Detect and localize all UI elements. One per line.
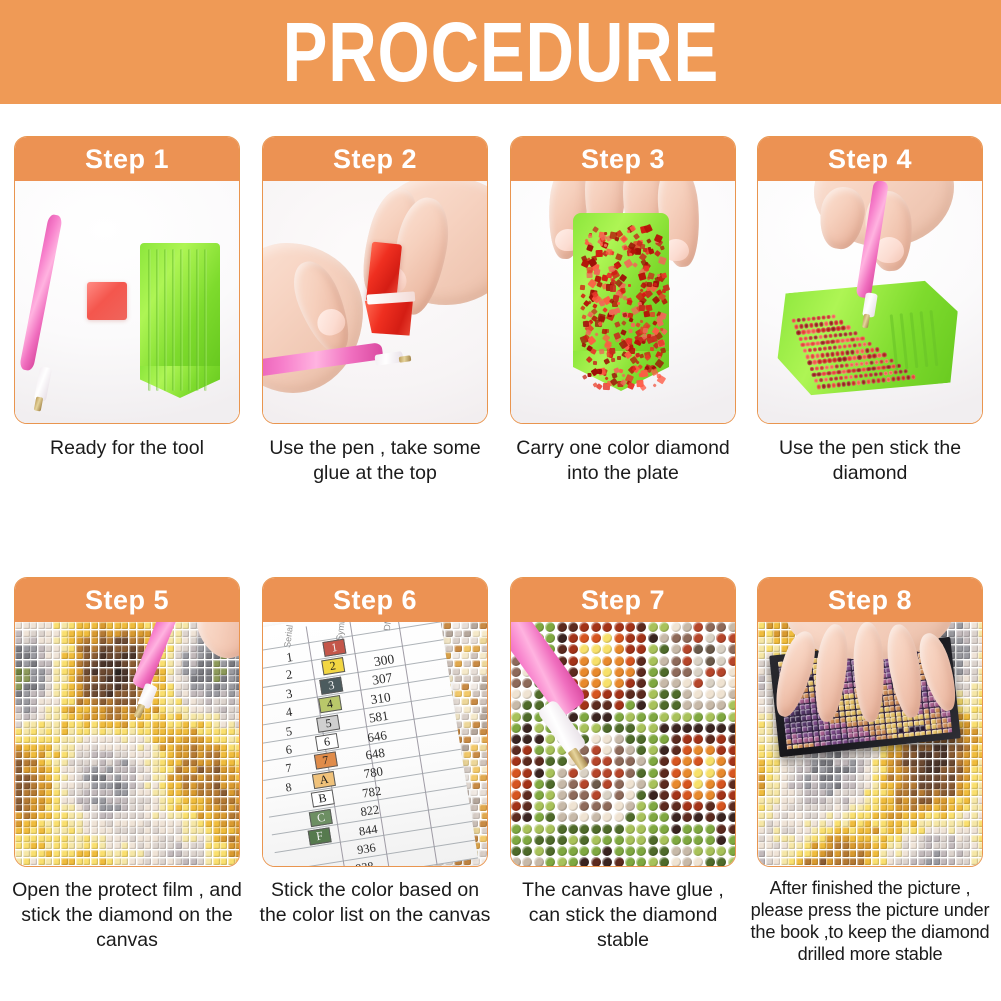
step-card-2[interactable]: Step 2	[262, 136, 488, 424]
drill	[159, 782, 166, 789]
drill	[796, 774, 803, 781]
drill	[197, 858, 204, 865]
drill	[197, 782, 204, 789]
drill	[106, 850, 113, 857]
drill	[648, 689, 658, 699]
drill	[99, 683, 106, 690]
drill	[923, 702, 928, 707]
drill	[228, 675, 235, 682]
drill	[144, 797, 151, 804]
drill	[15, 744, 22, 751]
drill	[15, 637, 22, 644]
drill	[705, 712, 715, 722]
drill	[579, 812, 589, 822]
drill	[522, 768, 532, 778]
drill	[235, 721, 239, 728]
drill	[933, 797, 940, 804]
drill	[864, 782, 871, 789]
step-card-4[interactable]: Step 4	[757, 136, 983, 424]
drill	[693, 723, 703, 733]
drill	[804, 850, 811, 857]
drill	[971, 690, 978, 697]
drill	[766, 630, 773, 637]
drill	[849, 812, 856, 819]
drill	[892, 728, 897, 733]
drill	[83, 751, 90, 758]
drill	[91, 744, 98, 751]
drill	[682, 712, 692, 722]
drill	[129, 835, 136, 842]
drill	[522, 745, 532, 755]
drill	[129, 797, 136, 804]
drill	[114, 804, 121, 811]
drill	[137, 835, 144, 842]
drill	[758, 827, 765, 834]
drill	[648, 835, 658, 845]
drill	[625, 790, 635, 800]
drill	[884, 707, 889, 712]
drill	[568, 835, 578, 845]
drill	[15, 782, 22, 789]
drill	[971, 827, 978, 834]
drill	[896, 717, 901, 722]
drill	[811, 804, 818, 811]
drill	[53, 728, 60, 735]
drill	[971, 675, 978, 682]
drill	[479, 652, 487, 659]
drill	[129, 766, 136, 773]
drill	[902, 759, 909, 766]
drill	[849, 774, 856, 781]
drill	[91, 782, 98, 789]
drill	[602, 745, 612, 755]
drill	[579, 644, 589, 654]
drill	[463, 675, 471, 682]
drill	[811, 858, 818, 865]
drill	[824, 365, 829, 370]
drill	[137, 637, 144, 644]
drill	[152, 759, 159, 766]
drill	[159, 797, 166, 804]
drill	[887, 797, 894, 804]
drill	[53, 637, 60, 644]
drill	[99, 789, 106, 796]
drill	[137, 782, 144, 789]
drill	[758, 812, 765, 819]
chart-symbol-cell: 7	[314, 752, 338, 770]
drill	[76, 797, 83, 804]
drill	[636, 824, 646, 834]
drill	[53, 744, 60, 751]
drill	[91, 713, 98, 720]
drill	[978, 713, 982, 720]
drill	[888, 689, 893, 694]
drill	[545, 622, 555, 632]
drill	[220, 660, 227, 667]
drill	[978, 789, 982, 796]
glue-square-icon	[87, 282, 127, 320]
drill	[867, 342, 872, 347]
drill	[901, 376, 906, 381]
drill	[190, 668, 197, 675]
drill	[758, 721, 765, 728]
drill	[728, 700, 735, 710]
drill	[68, 804, 75, 811]
drill	[614, 689, 624, 699]
drill	[766, 842, 773, 849]
drill	[849, 782, 856, 789]
drill	[804, 842, 811, 849]
drill	[129, 652, 136, 659]
drill	[819, 797, 826, 804]
drill	[45, 782, 52, 789]
drill	[648, 768, 658, 778]
drill	[61, 782, 68, 789]
drill	[152, 827, 159, 834]
drill	[591, 622, 601, 632]
chart-serial-value: 7	[285, 761, 293, 777]
drill	[175, 630, 182, 637]
drill	[831, 383, 836, 388]
drill	[925, 759, 932, 766]
drill	[152, 835, 159, 842]
step-header-7: Step 7	[511, 578, 735, 622]
drill	[99, 736, 106, 743]
drill	[808, 335, 813, 340]
drill	[197, 660, 204, 667]
drill	[811, 774, 818, 781]
drill	[978, 751, 982, 758]
drill	[220, 850, 227, 857]
drill	[182, 630, 189, 637]
drill	[159, 842, 166, 849]
drill	[121, 652, 128, 659]
drill	[872, 759, 879, 766]
drill	[834, 858, 841, 865]
step-card-7[interactable]: Step 7	[510, 577, 736, 867]
drill	[796, 820, 803, 827]
drill	[213, 858, 220, 865]
drill	[671, 790, 681, 800]
drill	[182, 820, 189, 827]
drill	[591, 723, 601, 733]
drill	[648, 678, 658, 688]
drill	[45, 744, 52, 751]
drill	[693, 689, 703, 699]
drill	[568, 779, 578, 789]
drill	[963, 630, 970, 637]
drill	[534, 756, 544, 766]
step-card-1[interactable]: Step 1	[14, 136, 240, 424]
drill	[175, 835, 182, 842]
drill	[842, 797, 849, 804]
drill	[144, 850, 151, 857]
drill	[956, 774, 963, 781]
drill	[874, 360, 879, 365]
drill	[842, 820, 849, 827]
drill	[45, 660, 52, 667]
drill	[197, 675, 204, 682]
drill	[23, 850, 30, 857]
drill	[228, 706, 235, 713]
drill	[705, 768, 715, 778]
drill	[106, 728, 113, 735]
drill	[129, 820, 136, 827]
drill	[826, 751, 833, 758]
drill	[978, 850, 982, 857]
drill	[880, 820, 887, 827]
drill	[30, 622, 37, 629]
drill	[933, 858, 940, 865]
drill	[956, 858, 963, 865]
drill	[522, 846, 532, 856]
drill	[228, 660, 235, 667]
drill	[114, 622, 121, 629]
drill	[804, 797, 811, 804]
drill	[728, 734, 735, 744]
drill	[45, 858, 52, 865]
drill	[648, 790, 658, 800]
drill	[15, 668, 22, 675]
drill	[76, 660, 83, 667]
drill	[38, 835, 45, 842]
drill	[627, 284, 630, 287]
drill	[598, 349, 604, 355]
drill	[197, 804, 204, 811]
drill	[470, 865, 478, 866]
drill	[693, 768, 703, 778]
drill	[175, 766, 182, 773]
drill	[61, 736, 68, 743]
drill	[796, 827, 803, 834]
drill	[228, 744, 235, 751]
steps-row-top: Step 1	[0, 104, 1001, 544]
drill	[758, 736, 765, 743]
drill	[924, 714, 929, 719]
drill	[693, 835, 703, 845]
drill	[38, 630, 45, 637]
drill	[461, 652, 469, 659]
drill	[182, 782, 189, 789]
drill	[159, 820, 166, 827]
drill	[23, 797, 30, 804]
drill	[864, 759, 871, 766]
drill	[68, 736, 75, 743]
drill	[175, 622, 182, 629]
drill	[716, 756, 726, 766]
drill	[522, 790, 532, 800]
drill	[836, 382, 841, 387]
drill	[61, 858, 68, 865]
drill	[61, 713, 68, 720]
drill	[872, 782, 879, 789]
drill	[978, 660, 982, 667]
drill	[522, 801, 532, 811]
drill	[579, 857, 589, 866]
drill	[902, 812, 909, 819]
drill	[53, 630, 60, 637]
drill	[796, 850, 803, 857]
drill	[61, 774, 68, 781]
drill	[716, 835, 726, 845]
drill	[852, 721, 857, 726]
drill	[454, 660, 462, 667]
drill	[557, 801, 567, 811]
drill	[83, 759, 90, 766]
drill	[30, 690, 37, 697]
drill	[948, 766, 955, 773]
drill	[602, 801, 612, 811]
drill	[963, 652, 970, 659]
drill	[175, 713, 182, 720]
chart-symbol-cell: 5	[316, 714, 340, 732]
drill	[481, 736, 487, 743]
drill	[23, 736, 30, 743]
drill	[45, 645, 52, 652]
drill	[864, 361, 869, 366]
drill	[648, 779, 658, 789]
drill	[971, 804, 978, 811]
drill	[819, 766, 826, 773]
drill	[864, 774, 871, 781]
drill	[452, 683, 460, 690]
drill	[190, 766, 197, 773]
drill	[625, 846, 635, 856]
drill	[933, 751, 940, 758]
drill	[836, 734, 841, 739]
drill	[591, 689, 601, 699]
drill	[106, 759, 113, 766]
drill	[591, 348, 598, 355]
step-image-2	[263, 181, 487, 424]
drill	[788, 858, 795, 865]
drill	[182, 698, 189, 705]
drill	[144, 789, 151, 796]
drill	[811, 759, 818, 766]
drill	[152, 744, 159, 751]
drill	[68, 820, 75, 827]
drill	[76, 713, 83, 720]
drill	[114, 782, 121, 789]
drill	[129, 858, 136, 865]
drill	[826, 782, 833, 789]
drill	[978, 812, 982, 819]
drill	[83, 827, 90, 834]
drill	[481, 842, 487, 849]
drill	[470, 637, 478, 644]
drill	[23, 668, 30, 675]
drill	[121, 713, 128, 720]
drill	[579, 285, 585, 291]
drill	[137, 850, 144, 857]
drill	[971, 622, 978, 629]
drill	[45, 683, 52, 690]
drill	[167, 683, 174, 690]
drill	[579, 712, 589, 722]
drill	[682, 801, 692, 811]
drill	[83, 660, 90, 667]
drill	[452, 637, 460, 644]
drill	[613, 367, 620, 374]
drill	[76, 721, 83, 728]
drill	[454, 630, 462, 637]
drill	[693, 700, 703, 710]
drill	[758, 652, 765, 659]
drill	[144, 858, 151, 865]
drill	[197, 652, 204, 659]
drill	[213, 683, 220, 690]
drill	[152, 766, 159, 773]
drill	[83, 728, 90, 735]
drill	[705, 656, 715, 666]
step-card-5[interactable]: Step 5	[14, 577, 240, 867]
drill	[728, 790, 735, 800]
drill	[902, 782, 909, 789]
drill	[971, 698, 978, 705]
drill	[452, 865, 460, 866]
drill	[591, 801, 601, 811]
step-card-6[interactable]: Step 6	[262, 577, 488, 867]
drill	[880, 751, 887, 758]
drill	[129, 660, 136, 667]
drill	[773, 645, 780, 652]
drill	[910, 835, 917, 842]
step-card-3[interactable]: Step 3	[510, 136, 736, 424]
drill	[228, 804, 235, 811]
drill	[864, 835, 871, 842]
drill	[579, 633, 589, 643]
drill	[144, 774, 151, 781]
drill	[591, 835, 601, 845]
drill	[940, 812, 947, 819]
drill	[895, 774, 902, 781]
drill	[205, 706, 212, 713]
drill	[45, 789, 52, 796]
step-card-8[interactable]: Step 8	[757, 577, 983, 867]
chart-serial-value: 5	[285, 724, 293, 740]
drill	[864, 827, 871, 834]
drill	[481, 858, 487, 865]
drill	[781, 782, 788, 789]
drill	[773, 797, 780, 804]
drill	[522, 712, 532, 722]
drill	[933, 774, 940, 781]
drill	[781, 827, 788, 834]
drill	[38, 660, 45, 667]
drill	[933, 842, 940, 849]
drill	[76, 690, 83, 697]
drill	[197, 698, 204, 705]
drill	[933, 820, 940, 827]
drill	[545, 756, 555, 766]
drill	[804, 804, 811, 811]
drill	[511, 734, 521, 744]
drill	[971, 835, 978, 842]
drill	[68, 774, 75, 781]
step-header-label-2: Step 2	[333, 146, 417, 173]
drill	[472, 736, 480, 743]
drill	[23, 690, 30, 697]
drill	[45, 668, 52, 675]
drill	[902, 820, 909, 827]
drill	[213, 812, 220, 819]
drill	[53, 736, 60, 743]
drill	[235, 774, 239, 781]
drill	[871, 379, 876, 384]
drill	[167, 736, 174, 743]
drill	[810, 354, 815, 359]
drill	[557, 622, 567, 632]
